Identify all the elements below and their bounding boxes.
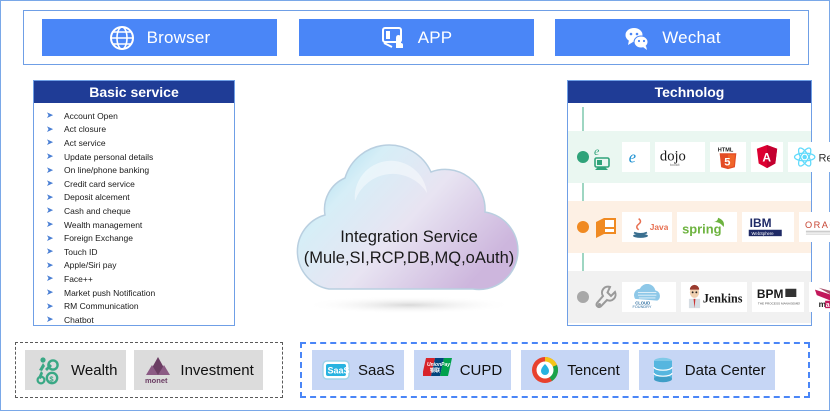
service-list-item-label: Apple/Siri pay bbox=[64, 260, 116, 270]
tile-label: SaaS bbox=[358, 362, 395, 379]
channel-label: APP bbox=[418, 28, 453, 48]
unionpay-icon: UnionPay 银联 bbox=[423, 355, 453, 385]
service-list-item[interactable]: ➤Chatbot bbox=[34, 313, 234, 327]
service-list-item-label: Update personal details bbox=[64, 152, 153, 162]
arrow-bullet-icon: ➤ bbox=[46, 151, 64, 162]
logo-bpm: BPM THE PROCESS MANAGEMENT bbox=[752, 282, 804, 312]
tile-label: Tencent bbox=[567, 362, 620, 379]
channel-label: Wechat bbox=[662, 28, 721, 48]
service-list-item[interactable]: ➤Face++ bbox=[34, 272, 234, 286]
service-list-item-label: Wealth management bbox=[64, 220, 142, 230]
server-icon bbox=[594, 214, 618, 240]
service-list-item-label: Account Open bbox=[64, 111, 118, 121]
logo-react: React bbox=[788, 142, 830, 172]
svg-text:BPM: BPM bbox=[757, 287, 784, 301]
logo-angular: A bbox=[751, 142, 783, 172]
channel-button-wechat[interactable]: Wechat bbox=[555, 19, 790, 56]
service-list-item[interactable]: ➤Credit card service bbox=[34, 177, 234, 191]
svg-text:ORACLE: ORACLE bbox=[805, 220, 830, 230]
technology-panel: Technolog e e bbox=[567, 80, 812, 326]
arrow-bullet-icon: ➤ bbox=[46, 260, 64, 271]
arrow-bullet-icon: ➤ bbox=[46, 178, 64, 189]
service-list-item-label: Act service bbox=[64, 138, 106, 148]
technology-row-frontend: e e dojo toolkit bbox=[568, 131, 811, 183]
service-list-item-label: Market push Notification bbox=[64, 288, 155, 298]
wrench-icon bbox=[594, 284, 618, 310]
basic-service-title: Basic service bbox=[34, 81, 234, 103]
tile-tencent[interactable]: Tencent bbox=[521, 350, 629, 390]
backend-logo-strip: Java spring IBM WebSphere bbox=[622, 212, 830, 242]
service-list-item[interactable]: ➤Account Open bbox=[34, 109, 234, 123]
integration-service-cloud: Integration Service (Mule,SI,RCP,DB,MQ,o… bbox=[259, 139, 559, 319]
external-services-group: SaaS SaaS UnionPay 银联 CUPD bbox=[300, 342, 810, 398]
svg-text:e: e bbox=[594, 144, 600, 158]
arrow-bullet-icon: ➤ bbox=[46, 205, 64, 216]
channel-button-app[interactable]: APP bbox=[299, 19, 534, 56]
monet-icon: monet bbox=[143, 355, 173, 385]
browser-window-icon: e bbox=[594, 144, 618, 170]
devops-logo-strip: CLOUD FOUNDRY Jenkins bbox=[622, 282, 830, 312]
arrow-bullet-icon: ➤ bbox=[46, 301, 64, 312]
service-list-item-label: Touch ID bbox=[64, 247, 98, 257]
svg-text:HTML: HTML bbox=[718, 147, 734, 153]
basic-service-list: ➤Account Open➤Act closure➤Act service➤Up… bbox=[34, 103, 234, 327]
service-list-item[interactable]: ➤Deposit alcement bbox=[34, 191, 234, 205]
arrow-bullet-icon: ➤ bbox=[46, 273, 64, 284]
tile-label: Investment bbox=[180, 362, 253, 379]
logo-internet-explorer: e bbox=[622, 142, 650, 172]
service-list-item-label: On line/phone banking bbox=[64, 165, 149, 175]
arrow-bullet-icon: ➤ bbox=[46, 137, 64, 148]
wealth-gears-icon: $ bbox=[34, 355, 64, 385]
service-list-item[interactable]: ➤Wealth management bbox=[34, 218, 234, 232]
architecture-diagram: Browser APP bbox=[0, 0, 830, 411]
tile-data-center[interactable]: Data Center bbox=[639, 350, 775, 390]
svg-text:A: A bbox=[762, 151, 771, 165]
service-list-item[interactable]: ➤Act closure bbox=[34, 123, 234, 137]
service-list-item[interactable]: ➤Apple/Siri pay bbox=[34, 259, 234, 273]
service-list-item-label: Face++ bbox=[64, 274, 93, 284]
service-list-item[interactable]: ➤Foreign Exchange bbox=[34, 231, 234, 245]
svg-text:a: a bbox=[826, 302, 830, 309]
database-icon bbox=[648, 355, 678, 385]
service-list-item-label: RM Communication bbox=[64, 301, 139, 311]
tile-saas[interactable]: SaaS SaaS bbox=[312, 350, 404, 390]
logo-dojo: dojo toolkit bbox=[655, 142, 705, 172]
technology-title: Technolog bbox=[568, 81, 811, 103]
svg-text:React: React bbox=[819, 153, 830, 165]
channel-label: Browser bbox=[147, 28, 211, 48]
business-partners-group: $ Wealth monet Investment bbox=[15, 342, 283, 398]
basic-service-panel: Basic service ➤Account Open➤Act closure➤… bbox=[33, 80, 235, 326]
service-list-item[interactable]: ➤RM Communication bbox=[34, 299, 234, 313]
arrow-bullet-icon: ➤ bbox=[46, 192, 64, 203]
technology-row-devops: CLOUD FOUNDRY Jenkins bbox=[568, 271, 811, 323]
cloud-line-1: Integration Service bbox=[259, 227, 559, 248]
logo-spring: spring bbox=[677, 212, 737, 242]
svg-text:spring: spring bbox=[682, 221, 722, 236]
svg-text:Jenkins: Jenkins bbox=[703, 292, 743, 306]
service-list-item[interactable]: ➤Market push Notification bbox=[34, 286, 234, 300]
wechat-icon bbox=[624, 25, 650, 51]
svg-text:Java: Java bbox=[650, 222, 668, 232]
tile-wealth[interactable]: $ Wealth bbox=[25, 350, 126, 390]
svg-text:IBM: IBM bbox=[750, 216, 772, 230]
arrow-bullet-icon: ➤ bbox=[46, 165, 64, 176]
service-list-item[interactable]: ➤On line/phone banking bbox=[34, 163, 234, 177]
svg-text:银联: 银联 bbox=[429, 367, 440, 374]
service-list-item[interactable]: ➤Touch ID bbox=[34, 245, 234, 259]
svg-text:SaaS: SaaS bbox=[328, 366, 350, 376]
channel-bar: Browser APP bbox=[23, 10, 809, 65]
saas-icon: SaaS bbox=[321, 355, 351, 385]
channel-button-browser[interactable]: Browser bbox=[42, 19, 277, 56]
rail-dot-frontend bbox=[577, 151, 589, 163]
tile-cupd[interactable]: UnionPay 银联 CUPD bbox=[414, 350, 512, 390]
tile-label: Wealth bbox=[71, 362, 117, 379]
arrow-bullet-icon: ➤ bbox=[46, 219, 64, 230]
service-list-item-label: Act closure bbox=[64, 124, 106, 134]
arrow-bullet-icon: ➤ bbox=[46, 124, 64, 135]
svg-text:THE PROCESS MANAGEMENT: THE PROCESS MANAGEMENT bbox=[758, 301, 800, 305]
cloud-line-2: (Mule,SI,RCP,DB,MQ,oAuth) bbox=[259, 248, 559, 269]
svg-text:5: 5 bbox=[724, 156, 730, 168]
service-list-item-label: Deposit alcement bbox=[64, 192, 130, 202]
svg-text:toolkit: toolkit bbox=[670, 163, 680, 167]
tencent-icon bbox=[530, 355, 560, 385]
svg-text:monet: monet bbox=[145, 376, 168, 385]
arrow-bullet-icon: ➤ bbox=[46, 287, 64, 298]
tile-investment[interactable]: monet Investment bbox=[134, 350, 262, 390]
svg-text:e: e bbox=[629, 147, 636, 166]
service-list-item[interactable]: ➤Act service bbox=[34, 136, 234, 150]
globe-icon bbox=[109, 25, 135, 51]
svg-text:FOUNDRY: FOUNDRY bbox=[632, 305, 651, 309]
arrow-bullet-icon: ➤ bbox=[46, 314, 64, 325]
service-list-item-label: Cash and cheque bbox=[64, 206, 131, 216]
rail-dot-devops bbox=[577, 291, 589, 303]
logo-apache-maven: Apache m a ven bbox=[809, 282, 830, 312]
logo-oracle: ORACLE bbox=[799, 212, 830, 242]
technology-rows: e e dojo toolkit bbox=[568, 103, 811, 326]
technology-row-backend: Java spring IBM WebSphere bbox=[568, 201, 811, 253]
service-list-item-label: Foreign Exchange bbox=[64, 233, 133, 243]
arrow-bullet-icon: ➤ bbox=[46, 233, 64, 244]
mobile-touch-icon bbox=[380, 25, 406, 51]
service-list-item-label: Chatbot bbox=[64, 315, 94, 325]
rail-dot-backend bbox=[577, 221, 589, 233]
svg-text:WebSphere: WebSphere bbox=[752, 231, 775, 236]
logo-html5: HTML 5 bbox=[710, 142, 746, 172]
arrow-bullet-icon: ➤ bbox=[46, 110, 64, 121]
service-list-item[interactable]: ➤Cash and cheque bbox=[34, 204, 234, 218]
service-list-item-label: Credit card service bbox=[64, 179, 135, 189]
logo-ibm-websphere: IBM WebSphere bbox=[742, 212, 794, 242]
tile-label: Data Center bbox=[685, 362, 766, 379]
frontend-logo-strip: e dojo toolkit HTML bbox=[622, 142, 830, 172]
logo-jenkins: Jenkins bbox=[681, 282, 747, 312]
arrow-bullet-icon: ➤ bbox=[46, 246, 64, 257]
logo-cloud-foundry: CLOUD FOUNDRY bbox=[622, 282, 676, 312]
cloud-text: Integration Service (Mule,SI,RCP,DB,MQ,o… bbox=[259, 227, 559, 269]
logo-java: Java bbox=[622, 212, 672, 242]
tile-label: CUPD bbox=[460, 362, 503, 379]
service-list-item[interactable]: ➤Update personal details bbox=[34, 150, 234, 164]
